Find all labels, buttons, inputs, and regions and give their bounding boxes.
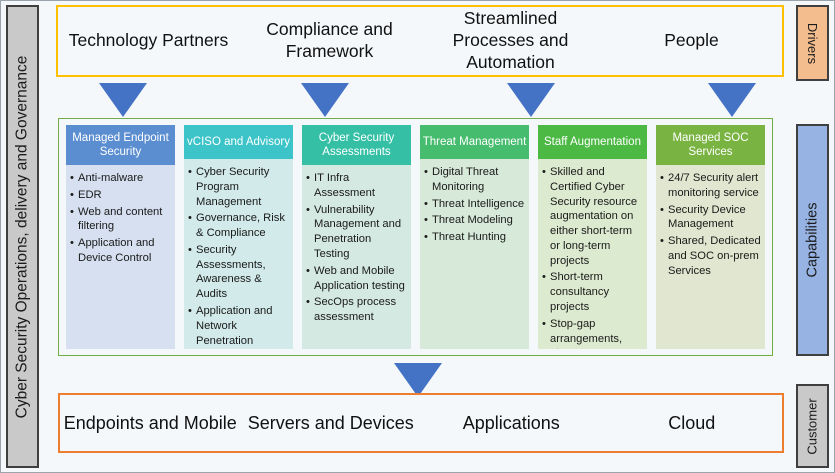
capability-header-threat-management: Threat Management [420,125,529,159]
list-item: Skilled and Certified Cyber Security res… [542,165,643,268]
capability-column-vciso-and-advisory[interactable]: vCISO and Advisory Cyber Security Progra… [184,125,293,349]
customer-applications: Applications [421,413,602,434]
list-item: Digital Threat Monitoring [424,165,525,195]
arrow-down-icon-streamlined-processes [507,83,555,117]
list-item: Vulnerability Management and Penetration… [306,203,407,262]
list-item: Threat Hunting [424,230,525,245]
capability-body-managed-soc-services: 24/7 Security alert monitoring service S… [656,165,765,349]
list-item: Shared, Dedicated and SOC on-prem Servic… [660,234,761,278]
capability-body-vciso-and-advisory: Cyber Security Program Management Govern… [184,159,293,349]
customer-servers-and-devices: Servers and Devices [241,413,422,434]
capability-body-staff-augmentation: Skilled and Certified Cyber Security res… [538,159,647,349]
capability-header-managed-endpoint-security: Managed Endpoint Security [66,125,175,165]
customer-cloud: Cloud [602,413,783,434]
right-rail-customer: Customer [796,384,829,468]
arrow-down-icon-compliance-framework [301,83,349,117]
driver-streamlined-processes: Streamlined Processes and Automation [420,8,601,74]
capability-list-staff-augmentation: Skilled and Certified Cyber Security res… [542,165,643,349]
list-item: Security Assessments, Awareness & Audits [188,243,289,302]
right-rail-customer-label: Customer [805,398,820,454]
right-rail-drivers: Drivers [796,5,829,81]
capability-column-threat-management[interactable]: Threat Management Digital Threat Monitor… [420,125,529,349]
list-item: Web and Mobile Application testing [306,264,407,294]
driver-compliance-framework: Compliance and Framework [239,19,420,63]
right-rail-capabilities-label: Capabilities [805,203,821,278]
capability-column-managed-soc-services[interactable]: Managed SOC Services 24/7 Security alert… [656,125,765,349]
list-item: Anti-malware [70,171,171,186]
capability-list-threat-management: Digital Threat Monitoring Threat Intelli… [424,165,525,245]
list-item: Governance, Risk & Compliance [188,211,289,241]
capability-column-staff-augmentation[interactable]: Staff Augmentation Skilled and Certified… [538,125,647,349]
left-rail-operations-governance: Cyber Security Operations, delivery and … [6,5,39,468]
arrow-down-icon-people [708,83,756,117]
left-rail-label: Cyber Security Operations, delivery and … [14,55,32,418]
list-item: Cyber Security Program Management [188,165,289,209]
list-item: Threat Modeling [424,213,525,228]
capability-header-staff-augmentation: Staff Augmentation [538,125,647,159]
driver-technology-partners: Technology Partners [58,30,239,52]
right-rail-capabilities: Capabilities [796,124,829,356]
list-item: Short-term consultancy projects [542,270,643,314]
list-item: SecOps process assessment [306,295,407,325]
list-item: Security Device Management [660,203,761,233]
capability-list-managed-soc-services: 24/7 Security alert monitoring service S… [660,171,761,278]
capability-body-threat-management: Digital Threat Monitoring Threat Intelli… [420,159,529,349]
capability-header-managed-soc-services: Managed SOC Services [656,125,765,165]
arrow-down-icon-technology-partners [99,83,147,117]
list-item: Application and Device Control [70,236,171,266]
list-item: 24/7 Security alert monitoring service [660,171,761,201]
capabilities-band: Managed Endpoint Security Anti-malware E… [58,118,773,356]
capability-body-cyber-security-assessments: IT Infra Assessment Vulnerability Manage… [302,165,411,349]
right-rail-drivers-label: Drivers [805,22,820,63]
diagram-canvas: Cyber Security Operations, delivery and … [0,0,835,473]
capability-list-cyber-security-assessments: IT Infra Assessment Vulnerability Manage… [306,171,407,325]
drivers-band: Technology Partners Compliance and Frame… [56,5,784,77]
capability-column-cyber-security-assessments[interactable]: Cyber Security Assessments IT Infra Asse… [302,125,411,349]
capability-header-vciso-and-advisory: vCISO and Advisory [184,125,293,159]
driver-people: People [601,30,782,52]
arrow-down-icon-capabilities-to-customer [394,363,442,397]
list-item: EDR [70,188,171,203]
capability-header-cyber-security-assessments: Cyber Security Assessments [302,125,411,165]
list-item: Threat Intelligence [424,197,525,212]
capability-body-managed-endpoint-security: Anti-malware EDR Web and content filteri… [66,165,175,349]
list-item: Stop-gap arrangements, etc. [542,317,643,349]
list-item: IT Infra Assessment [306,171,407,201]
capability-column-managed-endpoint-security[interactable]: Managed Endpoint Security Anti-malware E… [66,125,175,349]
capability-list-managed-endpoint-security: Anti-malware EDR Web and content filteri… [70,171,171,266]
customer-endpoints-and-mobile: Endpoints and Mobile [60,413,241,434]
list-item: Application and Network Penetration Test… [188,304,289,349]
list-item: Web and content filtering [70,205,171,235]
capability-list-vciso-and-advisory: Cyber Security Program Management Govern… [188,165,289,349]
customer-band: Endpoints and Mobile Servers and Devices… [58,393,784,453]
